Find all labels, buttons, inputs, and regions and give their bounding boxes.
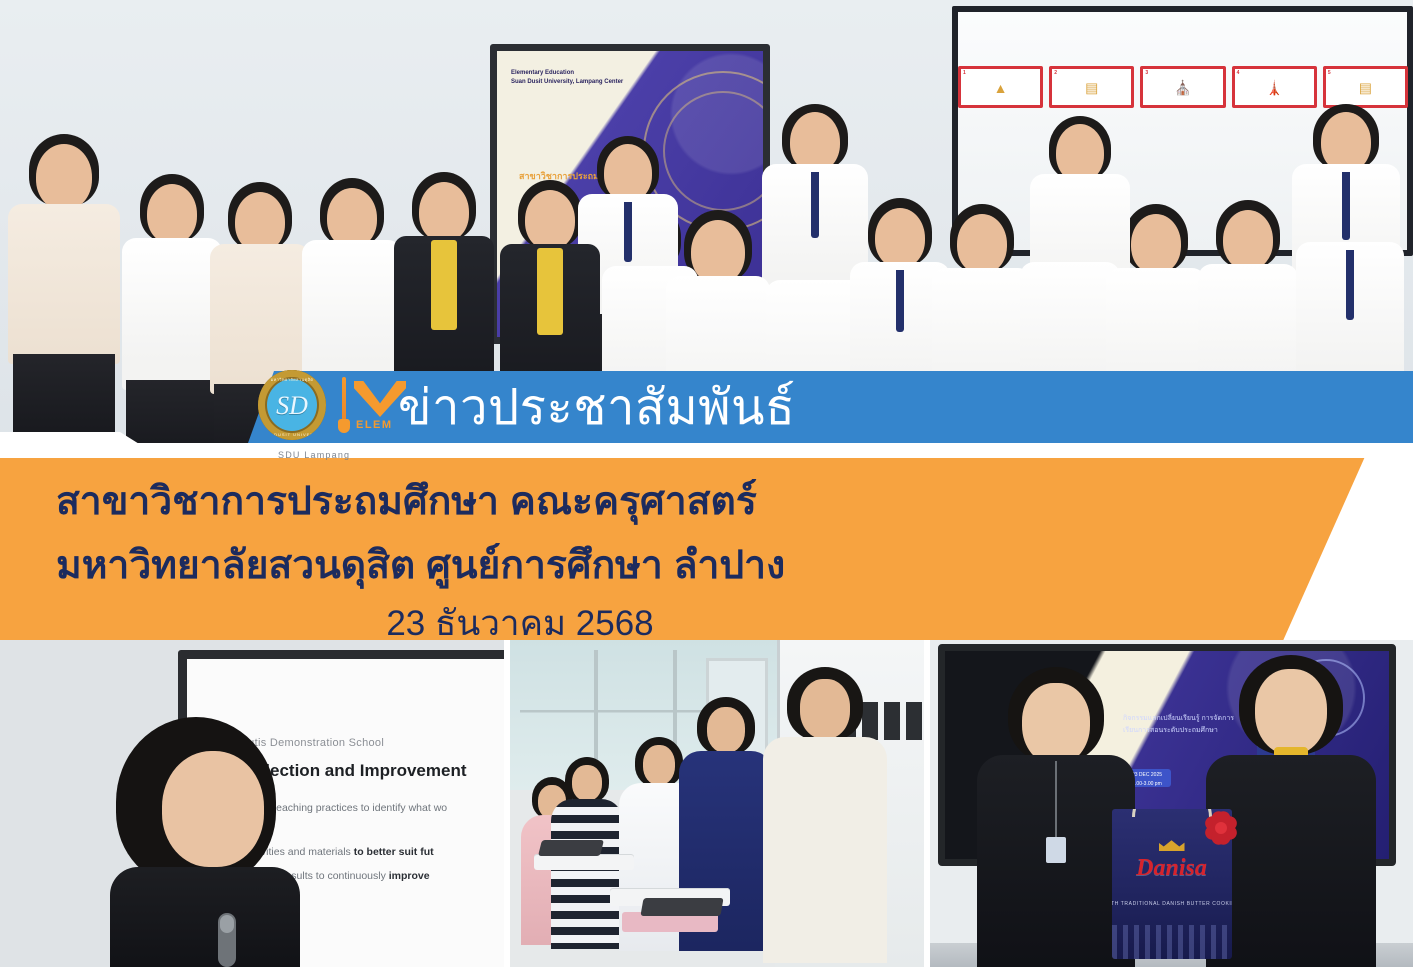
bottom-photo-row: La-arutis Demonstration School 6. Reflec… <box>0 640 1413 967</box>
tablet-device <box>640 898 723 916</box>
university-seal-icon: มหาวิทยาลัยสวนดุสิต SD SUAN DUSIT UNIVER… <box>258 370 326 440</box>
slide-bullet-4-bold: improve <box>389 870 430 882</box>
speaker-blazer <box>110 867 300 967</box>
blazer <box>1206 755 1376 967</box>
brand-lockup: มหาวิทยาลัยสวนดุสิต SD SUAN DUSIT UNIVER… <box>258 365 418 455</box>
cap-shape <box>354 381 406 417</box>
torch-icon <box>342 377 346 423</box>
crown-icon <box>1159 839 1185 851</box>
news-poster: Elementary Education Suan Dusit Universi… <box>0 0 1413 967</box>
desk-surface <box>534 854 634 870</box>
slide-badge-date: 23 DEC 2025 <box>1132 772 1162 778</box>
photo-lecturer-presenting: La-arutis Demonstration School 6. Reflec… <box>0 640 510 967</box>
id-badge <box>1046 837 1066 863</box>
tablet-device <box>538 840 604 856</box>
gift-tagline: WITH TRADITIONAL DANISH BUTTER COOKIES <box>1112 901 1232 907</box>
photo-divider-1 <box>504 640 510 967</box>
elem-wordmark: ELEM <box>356 419 393 431</box>
seal-bottom-text: SUAN DUSIT UNIVERSITY <box>258 432 326 437</box>
microphone-icon <box>218 913 236 967</box>
face <box>1022 683 1090 765</box>
page-headline: ข่าวประชาสัมพันธ์ <box>398 372 795 444</box>
ribbon-bow-icon <box>1198 808 1244 848</box>
seal-monogram: SD <box>276 391 308 421</box>
speaker-face <box>162 751 264 867</box>
event-date: 23 ธันวาคม 2568 <box>0 596 1040 651</box>
brand-sub-caption: SDU Lampang <box>278 450 350 460</box>
org-line-2: มหาวิทยาลัยสวนดุสิต ศูนย์การศึกษา ลำปาง <box>56 534 785 596</box>
photo-divider-2 <box>924 640 930 967</box>
photo-students-seated <box>510 640 930 967</box>
slide-bullet-3-bold: to better suit fut <box>354 846 434 858</box>
slide-badge-time: 1.00-3.00 pm <box>1132 781 1161 787</box>
speaker-figure <box>110 717 300 967</box>
org-line-1: สาขาวิชาการประถมศึกษา คณะครุศาสตร์ <box>56 470 757 532</box>
photo-gift-presentation: กิจกรรมแลกเปลี่ยนเรียนรู้ การจัดการเรียน… <box>930 640 1413 967</box>
seal-top-text: มหาวิทยาลัยสวนดุสิต <box>271 376 314 383</box>
face <box>1255 669 1327 755</box>
gift-brand-name: Danisa <box>1136 855 1207 882</box>
elem-graduation-cap-icon: ELEM <box>336 375 408 439</box>
banner-white-separator <box>0 443 1413 458</box>
skyline-graphic <box>1112 925 1232 959</box>
lanyard <box>1055 761 1057 839</box>
